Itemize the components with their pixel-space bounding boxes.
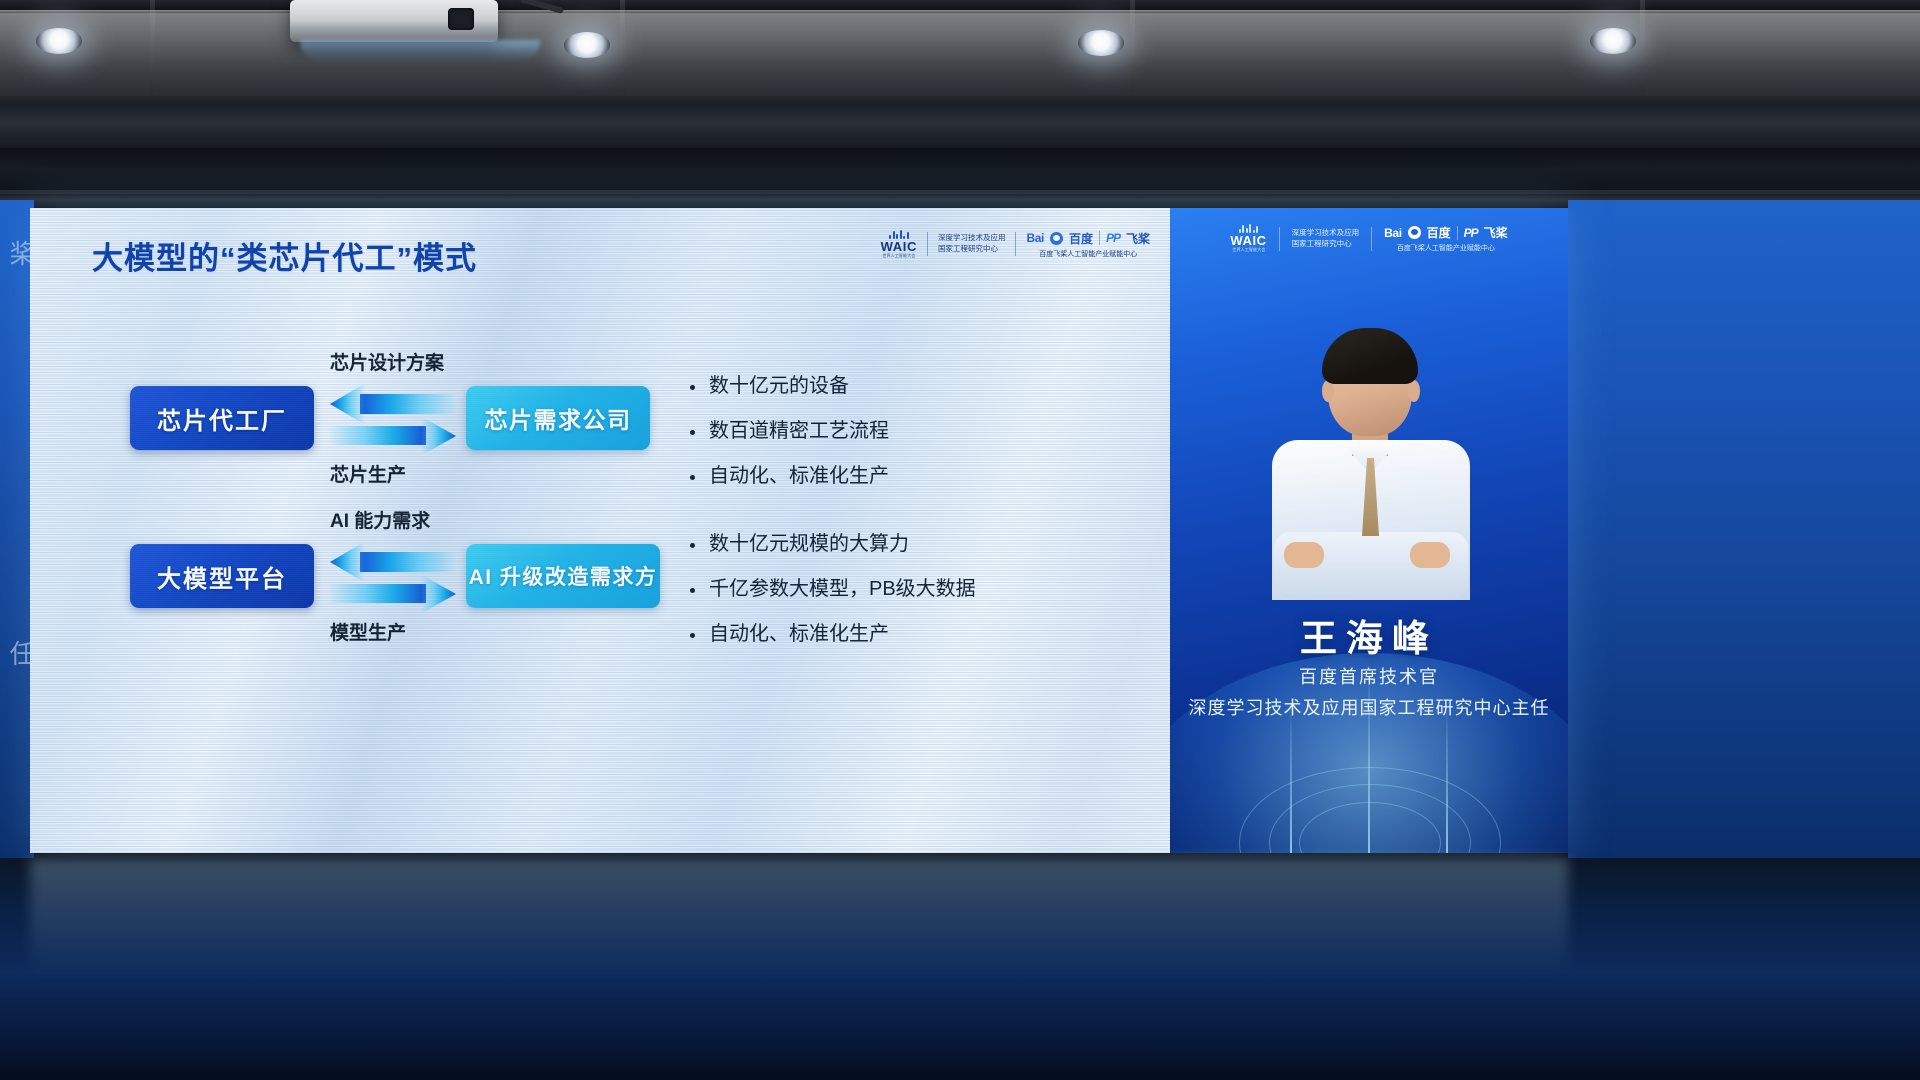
row2-arrow-top-label: AI 能力需求: [330, 506, 430, 533]
portrait-hair: [1322, 328, 1418, 384]
row1-left-box: 芯片代工厂: [130, 386, 314, 450]
speaker-name: 王海峰: [1170, 608, 1568, 662]
waic-subtitle: 世界人工智能大会: [882, 254, 915, 258]
row2-arrow-right-shaft: [330, 584, 426, 603]
panel-baidu-cn-mark: 百度: [1427, 224, 1451, 241]
left-wall-panel: 桨 任: [0, 200, 34, 880]
row2-bullet-text-1: 数十亿元规模的大算力: [709, 532, 909, 557]
waic-dots-icon: [1239, 224, 1259, 233]
conference-stage-scene: 桨 任 大模型的“类芯片代工”模式 WAIC 世界人工智能大会 深度学习技术及应…: [0, 0, 1920, 1080]
panel-partner-caption: 百度飞桨人工智能产业赋能中心: [1384, 243, 1508, 253]
paddle-cn-mark: 飞桨: [1126, 230, 1150, 247]
bullet-dot-icon: [690, 475, 695, 480]
row2-bullet-item-2: 千亿参数大模型，PB级大数据: [690, 577, 976, 602]
baidu-cn-mark: 百度: [1069, 230, 1093, 247]
baidu-paw-icon: [1050, 232, 1063, 245]
research-center-line2: 国家工程研究中心: [938, 244, 1006, 255]
projector-lens: [448, 8, 474, 30]
panel-baidu-paddle-logo: Bai 百度 PP 飞桨 百度飞桨人工智能产业赋能中心: [1384, 224, 1508, 253]
portrait-hand-right: [1410, 542, 1450, 568]
screen-floor-reflection: [30, 858, 1568, 978]
led-presentation-screen: 大模型的“类芯片代工”模式 WAIC 世界人工智能大会 深度学习技术及应用 国家…: [30, 208, 1568, 853]
panel-ring-graphics: [1230, 753, 1510, 853]
baidu-latin-mark: Bai: [1026, 231, 1043, 245]
row2-bullet-text-3: 自动化、标准化生产: [709, 622, 889, 647]
row2-arrow-left-shaft: [360, 552, 456, 572]
row1-arrow-bottom-label: 芯片生产: [330, 460, 406, 487]
panel-logo-strip: WAIC 世界人工智能大会 深度学习技术及应用 国家工程研究中心 Bai 百度 …: [1170, 224, 1568, 253]
bullet-dot-icon: [690, 633, 695, 638]
row2-bullet-item-1: 数十亿元规模的大算力: [690, 532, 976, 557]
bullet-dot-icon: [690, 588, 695, 593]
projector-light-beam: [300, 40, 540, 62]
row2-left-box: 大模型平台: [130, 544, 314, 608]
panel-logo-divider-1: [1279, 227, 1280, 251]
paddle-latin-mark: PP: [1106, 231, 1120, 245]
ceiling-slat-1: [0, 10, 1920, 13]
bullet-dot-icon: [690, 543, 695, 548]
panel-paddle-cn-mark: 飞桨: [1484, 224, 1508, 241]
panel-research-center-logo: 深度学习技术及应用 国家工程研究中心: [1292, 228, 1360, 250]
row1-arrow-left-head-icon: [330, 384, 364, 424]
row1-bullet-item-3: 自动化、标准化生产: [690, 464, 889, 489]
research-center-logo: 深度学习技术及应用 国家工程研究中心: [938, 233, 1006, 255]
baidu-paddle-row: Bai 百度 PP 飞桨: [1026, 230, 1150, 247]
row2-bullet-list: 数十亿元规模的大算力 千亿参数大模型，PB级大数据 自动化、标准化生产: [690, 532, 976, 667]
row2-left-box-label: 大模型平台: [157, 559, 287, 594]
speaker-portrait: [1266, 336, 1476, 596]
row1-arrow-left-shaft: [360, 394, 456, 414]
row1-bullet-text-2: 数百道精密工艺流程: [709, 419, 889, 444]
logo-divider-3: [1099, 231, 1100, 245]
panel-waic-wordmark: WAIC: [1230, 234, 1266, 247]
waic-wordmark: WAIC: [881, 240, 917, 253]
ceiling-downlight-4: [1590, 28, 1636, 54]
slide-content-area: 大模型的“类芯片代工”模式 WAIC 世界人工智能大会 深度学习技术及应用 国家…: [30, 208, 1170, 853]
speaker-title-line1: 百度首席技术官: [1170, 663, 1568, 689]
bullet-dot-icon: [690, 430, 695, 435]
panel-center-line2: 国家工程研究中心: [1292, 239, 1360, 250]
panel-baidu-latin-mark: Bai: [1384, 226, 1401, 240]
panel-baidu-paw-icon: [1408, 226, 1421, 239]
row2-bullet-item-3: 自动化、标准化生产: [690, 622, 976, 647]
panel-paddle-latin-mark: PP: [1464, 226, 1478, 240]
logo-divider-1: [927, 232, 928, 256]
slide-title: 大模型的“类芯片代工”模式: [92, 233, 477, 278]
row2-arrow-left-head-icon: [330, 542, 364, 582]
partner-caption: 百度飞桨人工智能产业赋能中心: [1026, 249, 1150, 259]
panel-logo-divider-2: [1371, 227, 1372, 251]
ceiling-beam-1: [0, 0, 1920, 10]
speaker-info-panel: WAIC 世界人工智能大会 深度学习技术及应用 国家工程研究中心 Bai 百度 …: [1170, 208, 1568, 853]
portrait-ear-right: [1408, 380, 1420, 402]
row1-bullet-list: 数十亿元的设备 数百道精密工艺流程 自动化、标准化生产: [690, 374, 889, 509]
baidu-paddle-logo: Bai 百度 PP 飞桨 百度飞桨人工智能产业赋能中心: [1026, 230, 1150, 259]
upper-wall-band: [0, 104, 1920, 152]
row1-arrow-right-shaft: [330, 426, 426, 445]
panel-center-line1: 深度学习技术及应用: [1292, 228, 1360, 239]
ceiling-downlight-3: [1078, 30, 1124, 56]
speaker-title-line2: 深度学习技术及应用国家工程研究中心主任: [1170, 694, 1568, 720]
row1-bullet-item-2: 数百道精密工艺流程: [690, 419, 889, 444]
row1-bullet-item-1: 数十亿元的设备: [690, 374, 889, 399]
ceiling-downlight-2: [564, 32, 610, 58]
row2-right-box-label: AI 升级改造需求方: [469, 561, 658, 591]
panel-beam-2: [1368, 663, 1370, 853]
row2-bullet-text-2: 千亿参数大模型，PB级大数据: [709, 577, 976, 602]
slide-logo-strip: WAIC 世界人工智能大会 深度学习技术及应用 国家工程研究中心 Bai 百度 …: [881, 226, 1150, 262]
panel-beam-3: [1446, 703, 1448, 853]
research-center-line1: 深度学习技术及应用: [938, 233, 1006, 244]
logo-divider-2: [1015, 232, 1016, 256]
bullet-dot-icon: [690, 385, 695, 390]
panel-logo-divider-3: [1457, 226, 1458, 240]
ceiling-downlight-1: [36, 28, 82, 54]
panel-waic-logo: WAIC 世界人工智能大会: [1230, 224, 1266, 252]
row1-arrow-right-head-icon: [422, 417, 456, 455]
panel-baidu-paddle-row: Bai 百度 PP 飞桨: [1384, 224, 1508, 241]
row2-arrow-bottom-label: 模型生产: [330, 618, 406, 645]
row2-arrow-right-head-icon: [422, 575, 456, 613]
row1-bullet-text-3: 自动化、标准化生产: [709, 464, 889, 489]
row1-bullet-text-1: 数十亿元的设备: [709, 374, 849, 399]
row1-arrow-top-label: 芯片设计方案: [330, 348, 444, 375]
panel-beam-1: [1290, 703, 1292, 853]
row1-right-box-label: 芯片需求公司: [485, 401, 632, 435]
row2-right-box: AI 升级改造需求方: [466, 544, 660, 608]
panel-waic-subtitle: 世界人工智能大会: [1232, 248, 1265, 252]
row1-right-box: 芯片需求公司: [466, 386, 650, 450]
waic-logo: WAIC 世界人工智能大会: [881, 230, 917, 258]
portrait-hand-left: [1284, 542, 1324, 568]
waic-dots-icon: [889, 230, 909, 239]
row1-left-box-label: 芯片代工厂: [157, 401, 287, 436]
right-wall-panel: [1568, 200, 1920, 880]
